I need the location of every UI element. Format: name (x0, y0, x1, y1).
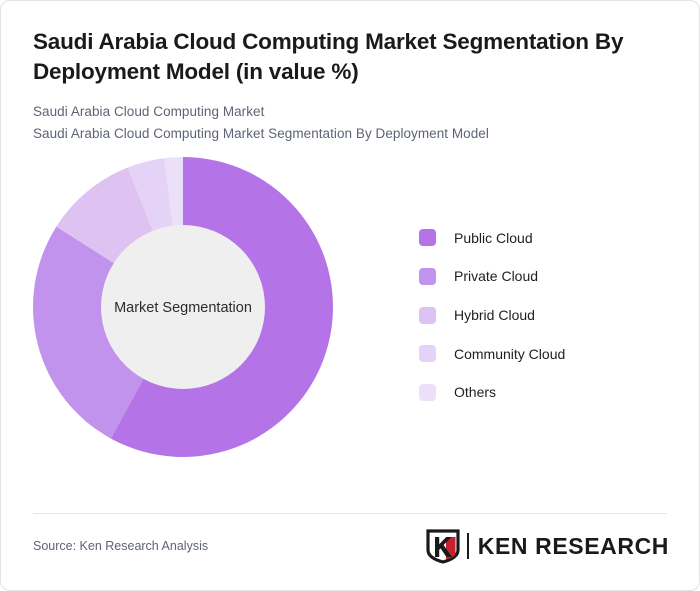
legend-swatch (419, 229, 436, 246)
chart-legend: Public CloudPrivate CloudHybrid CloudCom… (419, 219, 669, 412)
legend-swatch (419, 268, 436, 285)
legend-item-label: Public Cloud (454, 230, 533, 246)
source-text: Source: Ken Research Analysis (33, 539, 208, 553)
chart-footer: Source: Ken Research Analysis KEN RESEAR… (33, 513, 669, 579)
legend-item[interactable]: Public Cloud (419, 219, 669, 258)
legend-swatch (419, 384, 436, 401)
subtitle-segmentation: Saudi Arabia Cloud Computing Market Segm… (33, 123, 667, 145)
legend-item-label: Hybrid Cloud (454, 307, 535, 323)
legend-item[interactable]: Others (419, 373, 669, 412)
legend-item-label: Others (454, 384, 496, 400)
legend-item-label: Private Cloud (454, 268, 538, 284)
legend-item-label: Community Cloud (454, 346, 565, 362)
page-title: Saudi Arabia Cloud Computing Market Segm… (33, 27, 667, 87)
legend-swatch (419, 307, 436, 324)
donut-center-label: Market Segmentation (114, 300, 252, 316)
logo-wordmark: KEN RESEARCH (478, 533, 669, 560)
donut-svg: Market Segmentation (33, 157, 333, 457)
subtitle-group: Saudi Arabia Cloud Computing Market Saud… (33, 101, 667, 145)
donut-chart: Market Segmentation (33, 157, 333, 457)
chart-header: Saudi Arabia Cloud Computing Market Segm… (1, 1, 699, 145)
subtitle-market: Saudi Arabia Cloud Computing Market (33, 101, 667, 123)
legend-swatch (419, 345, 436, 362)
chart-body: Market Segmentation Public CloudPrivate … (1, 157, 699, 487)
legend-item[interactable]: Private Cloud (419, 257, 669, 296)
legend-item[interactable]: Hybrid Cloud (419, 296, 669, 335)
logo-divider (467, 533, 469, 559)
legend-item[interactable]: Community Cloud (419, 334, 669, 373)
chart-card: Saudi Arabia Cloud Computing Market Segm… (0, 0, 700, 591)
ken-shield-icon (426, 528, 460, 564)
ken-research-logo: KEN RESEARCH (426, 528, 669, 564)
